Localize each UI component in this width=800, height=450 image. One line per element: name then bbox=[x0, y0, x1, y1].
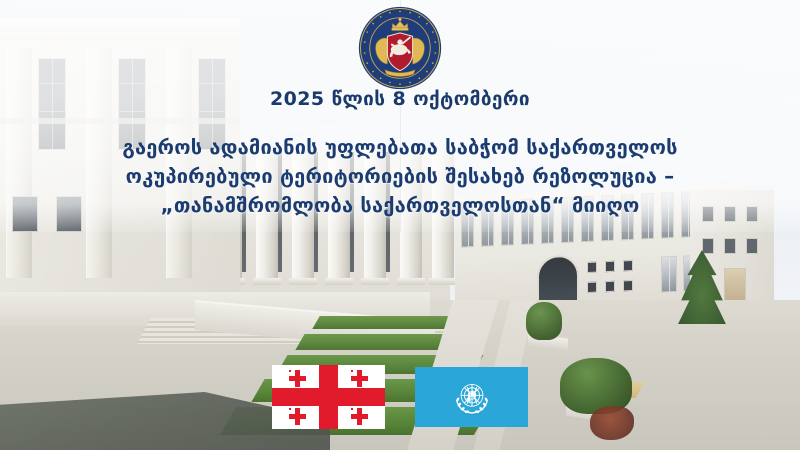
flag-georgia-icon bbox=[272, 365, 385, 429]
flag-united-nations-icon bbox=[415, 367, 528, 427]
arched-entrance bbox=[537, 254, 579, 306]
announcement-graphic: 2025 წლის 8 ოქტომბერი გაეროს ადამიანის უ… bbox=[0, 0, 800, 450]
title-line-3: „თანამშრომლობა საქართველოსთან“ მიიღო bbox=[0, 191, 800, 220]
announcement-date: 2025 წლის 8 ოქტომბერი bbox=[0, 88, 800, 110]
flag-row bbox=[272, 365, 528, 429]
title-line-2: ოკუპირებული ტერიტორიების შესახებ რეზოლუც… bbox=[0, 162, 800, 191]
title-line-1: გაეროს ადამიანის უფლებათა საბჭომ საქართვ… bbox=[0, 133, 800, 162]
shrub bbox=[526, 302, 562, 340]
red-foliage bbox=[590, 406, 634, 440]
page-title: გაეროს ადამიანის უფლებათა საბჭომ საქართვ… bbox=[0, 133, 800, 220]
georgia-mfa-seal-icon bbox=[358, 6, 442, 90]
